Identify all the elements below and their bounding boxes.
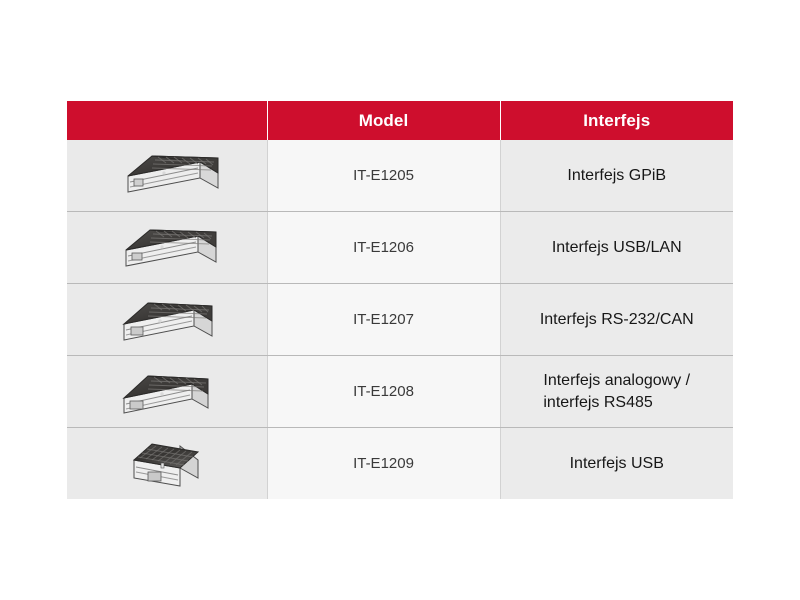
cell-product-image xyxy=(67,356,267,428)
interface-text: Interfejs analogowy / interfejs RS485 xyxy=(543,370,690,412)
interface-line-1: Interfejs analogowy / xyxy=(543,372,690,389)
interface-line-1: Interfejs USB/LAN xyxy=(552,239,682,256)
interface-line-1: Interfejs USB xyxy=(570,455,664,472)
interface-module-icon xyxy=(108,218,226,278)
page-root: Model Interfejs xyxy=(0,0,800,600)
header-row: Model Interfejs xyxy=(67,101,733,140)
table-row: IT-E1206 Interfejs USB/LAN xyxy=(67,212,733,284)
cell-product-image xyxy=(67,284,267,356)
interface-modules-table: Model Interfejs xyxy=(67,101,733,499)
spec-table-container: Model Interfejs xyxy=(67,101,733,499)
cell-interface: Interfejs USB/LAN xyxy=(500,212,733,284)
interface-text: Interfejs GPiB xyxy=(567,165,666,186)
cell-interface: Interfejs analogowy / interfejs RS485 xyxy=(500,356,733,428)
interface-module-icon xyxy=(108,146,226,206)
interface-module-icon xyxy=(108,434,226,494)
interface-module-icon xyxy=(108,290,226,350)
interface-line-1: Interfejs GPiB xyxy=(567,167,666,184)
column-header-model: Model xyxy=(267,101,500,140)
cell-product-image xyxy=(67,140,267,212)
table-row: IT-E1207 Interfejs RS-232/CAN xyxy=(67,284,733,356)
table-header: Model Interfejs xyxy=(67,101,733,140)
column-header-interface: Interfejs xyxy=(500,101,733,140)
table-body: IT-E1205 Interfejs GPiB xyxy=(67,140,733,499)
cell-interface: Interfejs GPiB xyxy=(500,140,733,212)
cell-model: IT-E1208 xyxy=(267,356,500,428)
table-row: IT-E1205 Interfejs GPiB xyxy=(67,140,733,212)
cell-interface: Interfejs USB xyxy=(500,428,733,500)
cell-product-image xyxy=(67,212,267,284)
interface-text: Interfejs USB/LAN xyxy=(552,237,682,258)
interface-text: Interfejs RS-232/CAN xyxy=(540,309,694,330)
cell-product-image xyxy=(67,428,267,500)
cell-model: IT-E1209 xyxy=(267,428,500,500)
cell-model: IT-E1207 xyxy=(267,284,500,356)
cell-model: IT-E1206 xyxy=(267,212,500,284)
interface-text: Interfejs USB xyxy=(570,453,664,474)
cell-interface: Interfejs RS-232/CAN xyxy=(500,284,733,356)
interface-module-icon xyxy=(108,362,226,422)
table-row: IT-E1208 Interfejs analogowy / interfejs… xyxy=(67,356,733,428)
table-row: IT-E1209 Interfejs USB xyxy=(67,428,733,500)
interface-line-2: interfejs RS485 xyxy=(543,394,652,411)
cell-model: IT-E1205 xyxy=(267,140,500,212)
column-header-image xyxy=(67,101,267,140)
interface-line-1: Interfejs RS-232/CAN xyxy=(540,311,694,328)
